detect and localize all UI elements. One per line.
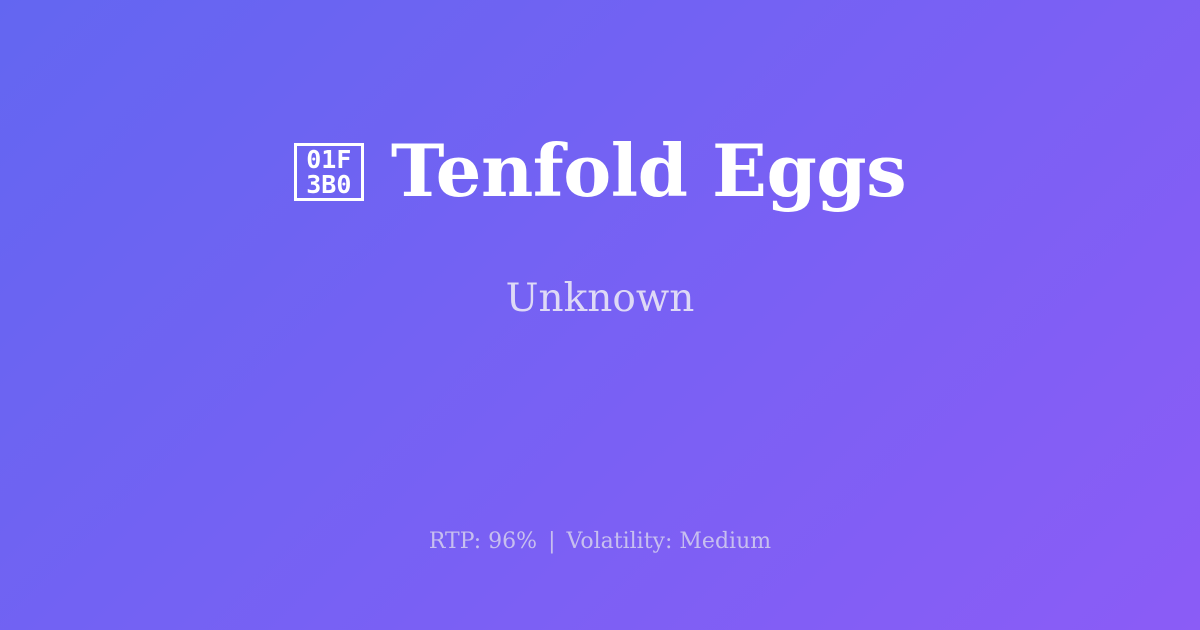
meta-separator: | xyxy=(544,529,559,554)
tofu-codepoint-bottom: 3B0 xyxy=(306,172,351,197)
slot-machine-emoji-icon: 01F 3B0 xyxy=(294,143,364,201)
game-meta-line: RTP: 96% | Volatility: Medium xyxy=(0,528,1200,556)
hero-block: 01F 3B0 Tenfold Eggs Unknown xyxy=(0,0,1200,470)
title-row: 01F 3B0 Tenfold Eggs xyxy=(294,135,906,207)
og-share-card: 01F 3B0 Tenfold Eggs Unknown RTP: 96% | … xyxy=(0,0,1200,630)
game-title: Tenfold Eggs xyxy=(391,135,906,207)
volatility-value: Medium xyxy=(679,529,771,554)
rtp-label: RTP: xyxy=(429,529,481,554)
tofu-codepoint-top: 01F xyxy=(306,147,351,172)
volatility-label: Volatility: xyxy=(567,529,673,554)
rtp-value: 96% xyxy=(488,529,537,554)
game-provider-subtitle: Unknown xyxy=(506,279,695,318)
